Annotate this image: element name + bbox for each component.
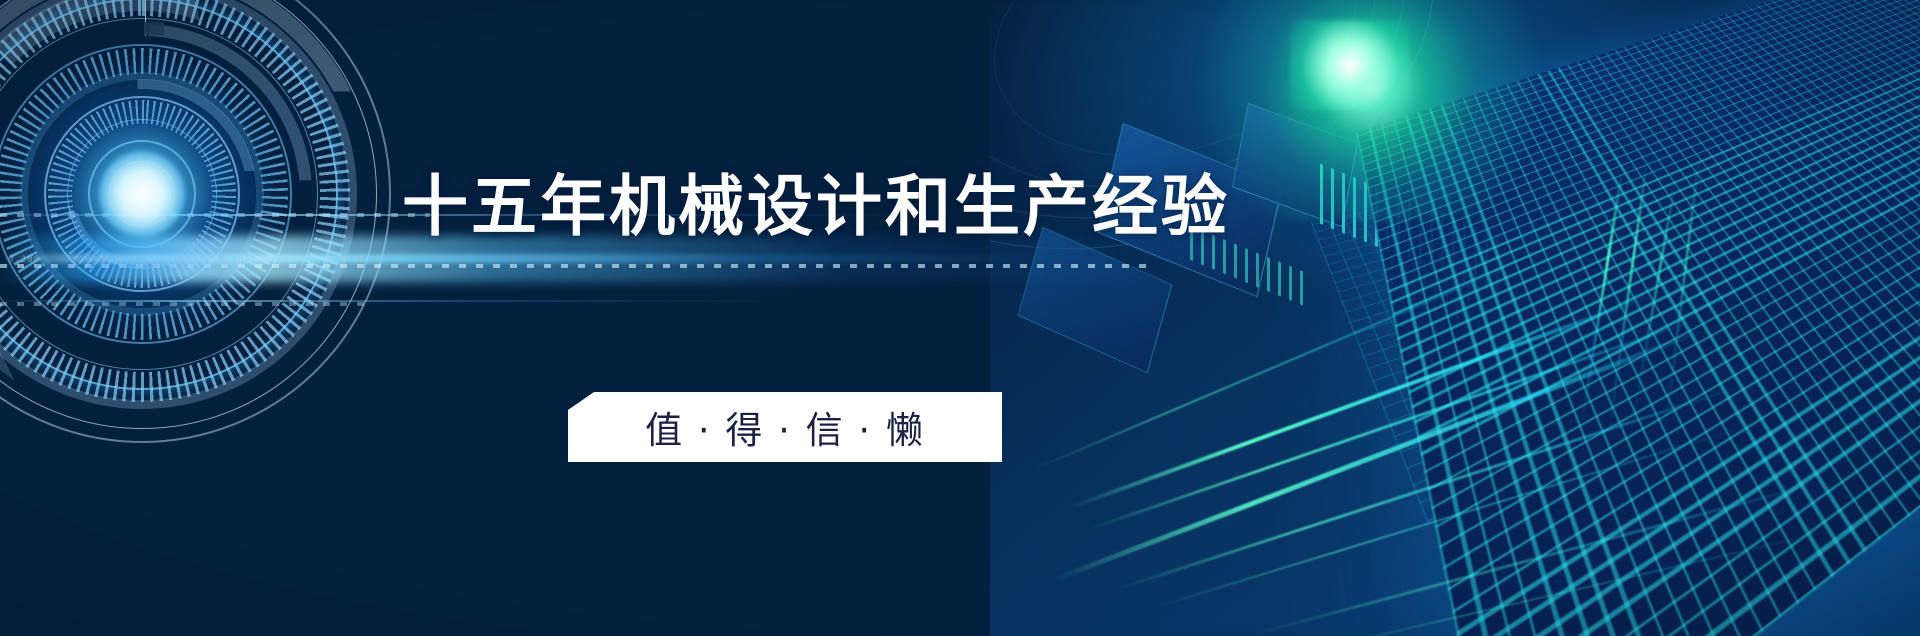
tagline-box: 值 · 得 · 信 · 懒: [568, 392, 1002, 462]
vignette-overlay: [0, 0, 1920, 636]
tagline-text: 值 · 得 · 信 · 懒: [645, 400, 925, 454]
hero-banner: 0.288 0.3294 0.3848 0.3886 十五年机械设计和生产经验 …: [0, 0, 1920, 636]
banner-headline: 十五年机械设计和生产经验: [402, 174, 1230, 240]
